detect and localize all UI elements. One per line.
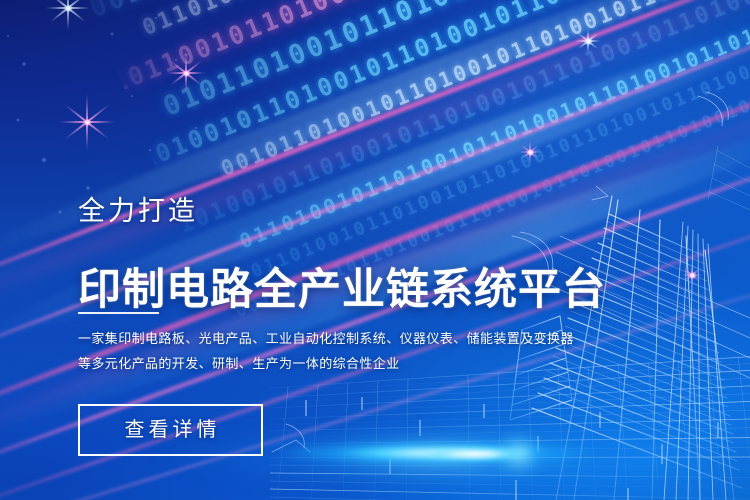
description-line-2: 等多元化产品的开发、研制、生产为一体的综合性企业	[78, 351, 548, 376]
view-details-button[interactable]: 查看详情	[78, 404, 263, 456]
banner-content: 全力打造 印制电路全产业链系统平台 一家集印制电路板、光电产品、工业自动化控制系…	[78, 0, 678, 500]
description: 一家集印制电路板、光电产品、工业自动化控制系统、仪器仪表、储能装置及变换器 等多…	[78, 326, 548, 376]
page-title: 印制电路全产业链系统平台	[78, 269, 606, 312]
title-divider	[78, 312, 159, 314]
hero-banner: 1011010010110100101101001011010010110100…	[0, 0, 750, 500]
eyebrow-text: 全力打造	[78, 198, 198, 225]
description-line-1: 一家集印制电路板、光电产品、工业自动化控制系统、仪器仪表、储能装置及变换器	[78, 326, 548, 351]
